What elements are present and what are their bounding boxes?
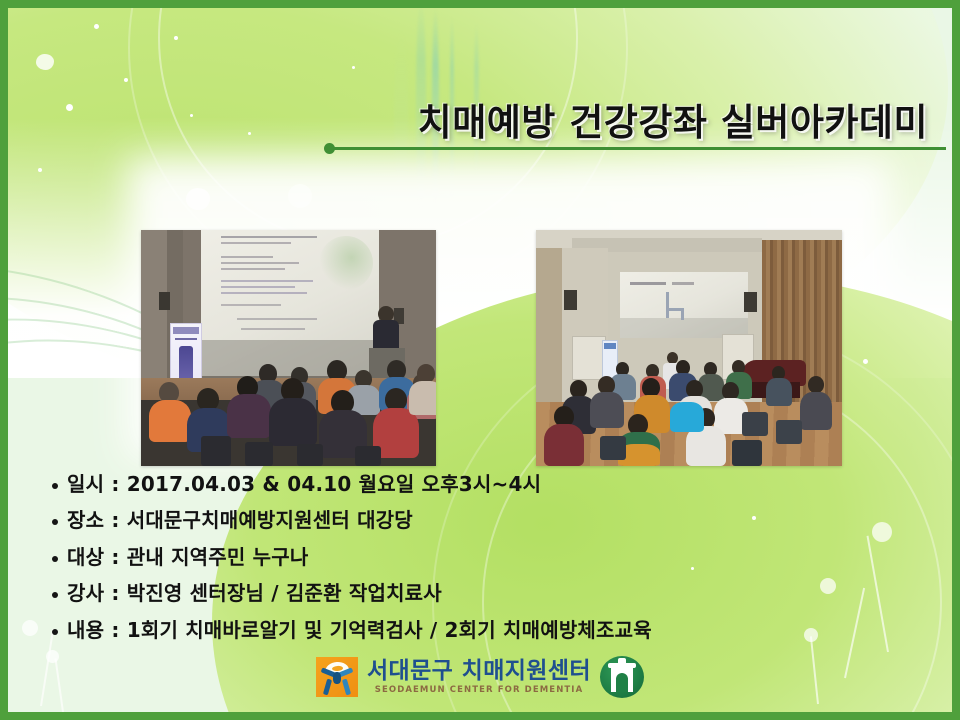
bullet-dot <box>52 592 58 598</box>
list-item-text: 강사 : 박진영 센터장님 / 김준환 작업치료사 <box>67 579 442 607</box>
detail-list: 일시 : 2017.04.03 & 04.10 월요일 오후3시~4시 장소 :… <box>52 470 922 652</box>
organization-logo-bar: 서대문구 치매지원센터 SEODAEMUN CENTER FOR DEMENTI… <box>8 656 952 698</box>
slide-title-container: 치매예방 건강강좌 실버아카데미 <box>8 92 928 146</box>
sparkle-blob <box>186 188 210 210</box>
logo-wordmark: 서대문구 치매지원센터 SEODAEMUN CENTER FOR DEMENTI… <box>367 660 591 695</box>
seodaemun-dementia-center-mark-icon <box>316 657 358 697</box>
title-underline-rule <box>330 147 946 150</box>
page-title: 치매예방 건강강좌 실버아카데미 <box>418 92 928 146</box>
sparkle-dot <box>124 78 128 82</box>
list-item: 강사 : 박진영 센터장님 / 김준환 작업치료사 <box>52 579 922 607</box>
photo-strip <box>8 230 952 466</box>
list-item: 내용 : 1회기 치매바로알기 및 기억력검사 / 2회기 치매예방체조교육 <box>52 616 922 644</box>
sparkle-dot <box>38 168 42 172</box>
bullet-dot <box>52 556 58 562</box>
list-item-text: 내용 : 1회기 치매바로알기 및 기억력검사 / 2회기 치매예방체조교육 <box>67 616 652 644</box>
slide-frame: 치매예방 건강강좌 실버아카데미 <box>0 0 960 720</box>
bullet-dot <box>52 629 58 635</box>
seodaemun-gu-gate-emblem-icon <box>600 656 644 698</box>
list-item: 일시 : 2017.04.03 & 04.10 월요일 오후3시~4시 <box>52 470 922 498</box>
sparkle-dot <box>94 24 99 29</box>
lecture-hall-photo-left <box>141 230 436 466</box>
list-item-text: 장소 : 서대문구치매예방지원센터 대강당 <box>67 506 413 534</box>
bullet-dot <box>52 519 58 525</box>
slide-canvas: 치매예방 건강강좌 실버아카데미 <box>8 8 952 712</box>
sparkle-dot <box>288 184 312 208</box>
list-item: 장소 : 서대문구치매예방지원센터 대강당 <box>52 506 922 534</box>
list-item-text: 일시 : 2017.04.03 & 04.10 월요일 오후3시~4시 <box>67 470 541 498</box>
sparkle-dot <box>174 36 178 40</box>
logo-korean-name: 서대문구 치매지원센터 <box>367 660 591 683</box>
logo-english-name: SEODAEMUN CENTER FOR DEMENTIA <box>375 686 584 695</box>
sparkle-dot <box>352 66 355 69</box>
bullet-dot <box>52 483 58 489</box>
list-item-text: 대상 : 관내 지역주민 누구나 <box>67 543 308 571</box>
sparkle-blob <box>36 54 54 70</box>
person-figure-shape <box>320 670 354 695</box>
lecture-hall-photo-right <box>536 230 842 466</box>
list-item: 대상 : 관내 지역주민 누구나 <box>52 543 922 571</box>
